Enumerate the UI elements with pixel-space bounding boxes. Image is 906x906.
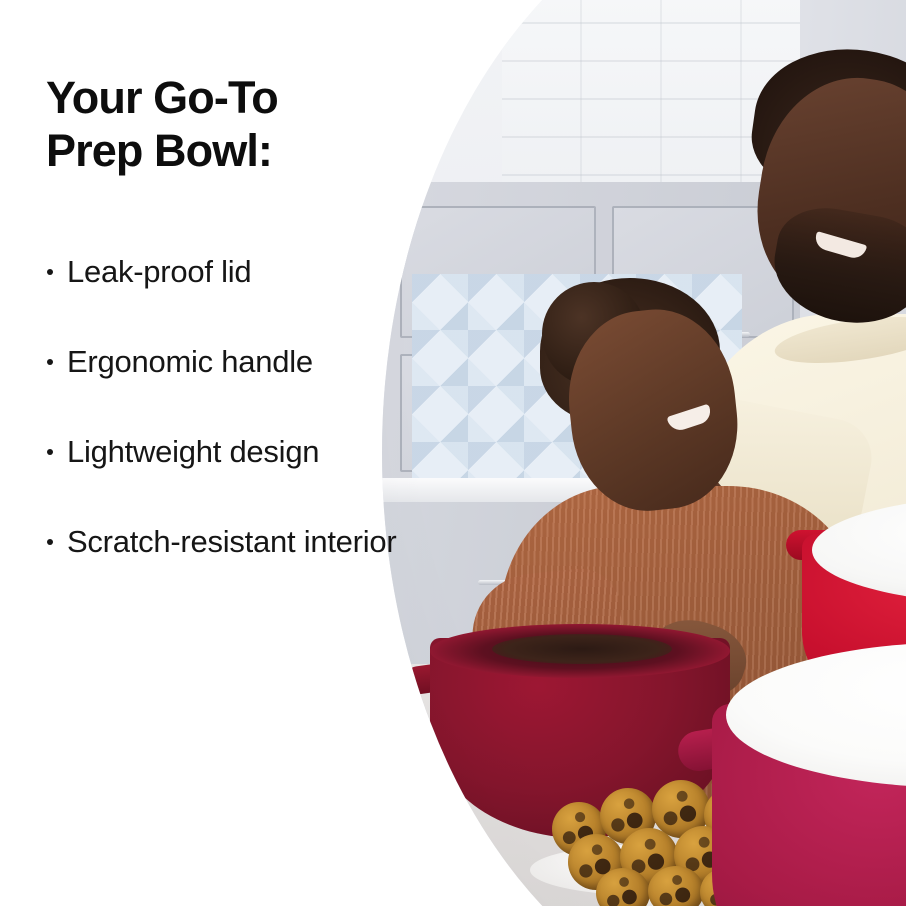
- feature-label: Lightweight design: [67, 434, 319, 469]
- chocolate-chips: [492, 634, 672, 664]
- list-item: Scratch-resistant interior: [46, 522, 418, 563]
- hero-photo: [382, 0, 906, 906]
- list-item: Leak-proof lid: [46, 252, 418, 293]
- bullet-dot-icon: [47, 539, 53, 545]
- bullet-dot-icon: [47, 449, 53, 455]
- product-feature-card: Your Go-To Prep Bowl: Leak-proof lid Erg…: [0, 0, 906, 906]
- feature-list: Leak-proof lid Ergonomic handle Lightwei…: [46, 252, 418, 563]
- feature-label: Scratch-resistant interior: [67, 524, 396, 559]
- feature-label: Leak-proof lid: [67, 254, 251, 289]
- feature-label: Ergonomic handle: [67, 344, 313, 379]
- bullet-dot-icon: [47, 269, 53, 275]
- list-item: Lightweight design: [46, 432, 418, 473]
- page-title: Your Go-To Prep Bowl:: [46, 72, 406, 177]
- bullet-dot-icon: [47, 359, 53, 365]
- hero-photo-mask: [382, 0, 906, 906]
- copy-panel: Your Go-To Prep Bowl: Leak-proof lid Erg…: [0, 0, 420, 906]
- list-item: Ergonomic handle: [46, 342, 418, 383]
